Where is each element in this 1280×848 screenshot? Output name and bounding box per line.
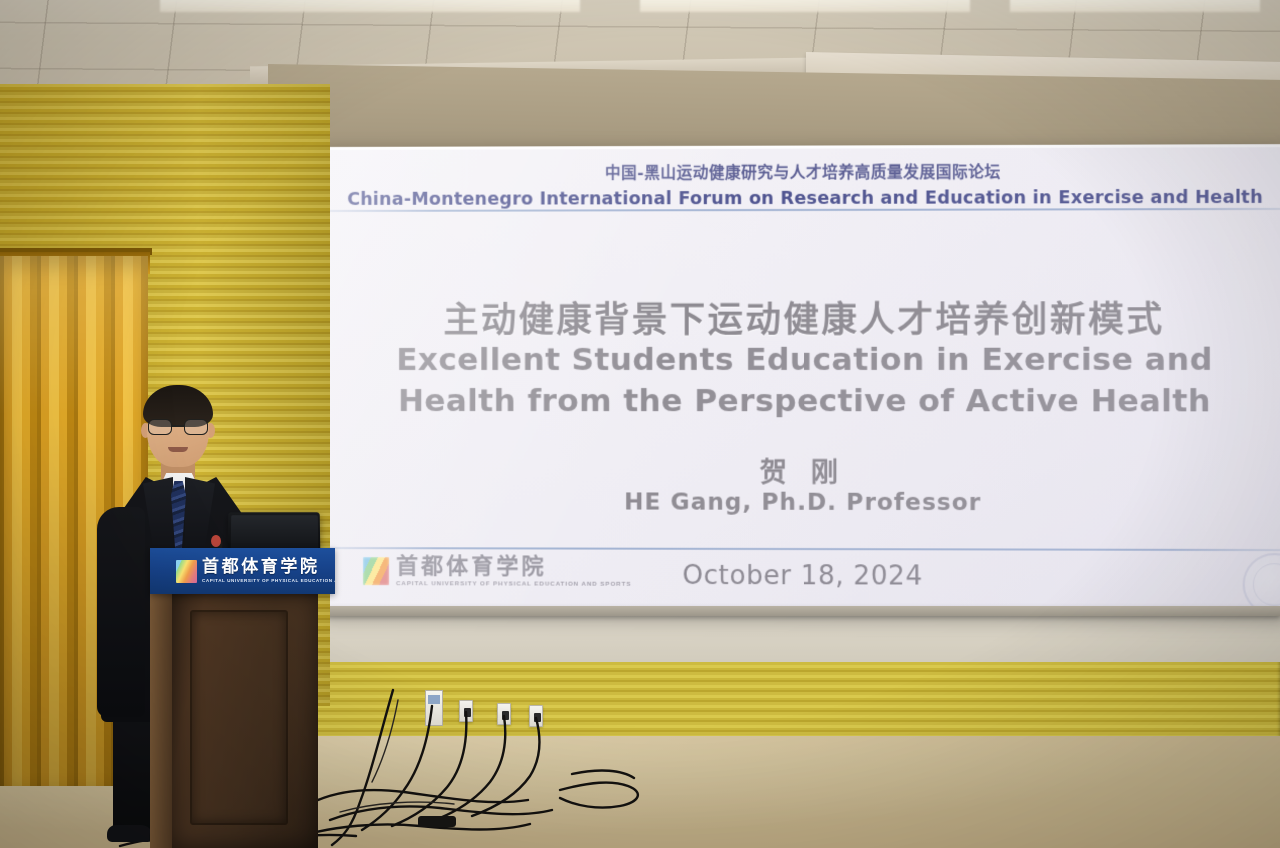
- podium-microphone: [211, 535, 221, 547]
- stage-wall: [312, 612, 1280, 662]
- podium-banner-chinese: 首都体育学院: [202, 559, 335, 576]
- wall-control-panel[interactable]: [425, 690, 443, 726]
- screen-bottom-bar: [312, 606, 1280, 616]
- presenter-arm: [97, 507, 145, 717]
- slide-logo-chinese: 首都体育学院: [396, 555, 631, 578]
- presentation-photo-scene: 中国-黑山运动健康研究与人才培养高质量发展国际论坛 China-Monteneg…: [0, 0, 1280, 848]
- podium: 首都体育学院 CAPITAL UNIVERSITY OF PHYSICAL ED…: [150, 548, 335, 848]
- power-outlet[interactable]: [529, 705, 543, 727]
- slide-divider-bottom: [319, 547, 1280, 551]
- projection-screen[interactable]: 中国-黑山运动健康研究与人才培养高质量发展国际论坛 China-Monteneg…: [319, 144, 1280, 615]
- glasses-lens: [184, 419, 208, 435]
- power-outlet[interactable]: [459, 700, 473, 722]
- presentation-title-english-line2: Health from the Perspective of Active He…: [319, 381, 1280, 422]
- speaker-name-english: HE Gang, Ph.D. Professor: [319, 489, 1280, 517]
- presenter-shoe: [107, 825, 153, 842]
- podium-university-logo-icon: [176, 560, 197, 583]
- presenter-glasses-icon: [148, 419, 208, 435]
- forum-title-chinese: 中国-黑山运动健康研究与人才培养高质量发展国际论坛: [319, 160, 1280, 186]
- ceiling-light: [160, 0, 580, 12]
- glasses-lens: [148, 419, 172, 435]
- presenter-mouth: [168, 447, 188, 452]
- presentation-title-english-line1: Excellent Students Education in Exercise…: [319, 340, 1280, 381]
- podium-banner-english: CAPITAL UNIVERSITY OF PHYSICAL EDUCATION…: [202, 579, 335, 584]
- ceiling-light: [640, 0, 970, 12]
- glasses-bridge: [172, 425, 184, 427]
- podium-front-panel: [190, 610, 288, 825]
- slide-logo-english: CAPITAL UNIVERSITY OF PHYSICAL EDUCATION…: [396, 581, 631, 588]
- podium-banner: 首都体育学院 CAPITAL UNIVERSITY OF PHYSICAL ED…: [150, 548, 335, 594]
- presentation-title-english: Excellent Students Education in Exercise…: [319, 340, 1280, 423]
- ceiling-light: [1010, 0, 1260, 12]
- university-logo-icon: [363, 557, 389, 585]
- slide-header: 中国-黑山运动健康研究与人才培养高质量发展国际论坛 China-Monteneg…: [319, 160, 1280, 213]
- presenter-laptop[interactable]: [228, 512, 321, 552]
- speaker-name-chinese: 贺 刚: [319, 450, 1280, 490]
- presentation-title-chinese: 主动健康背景下运动健康人才培养创新模式: [319, 291, 1280, 343]
- power-outlet[interactable]: [497, 703, 511, 725]
- laptop-screen: [230, 515, 317, 550]
- slide-footer-logo: 首都体育学院 CAPITAL UNIVERSITY OF PHYSICAL ED…: [363, 555, 631, 588]
